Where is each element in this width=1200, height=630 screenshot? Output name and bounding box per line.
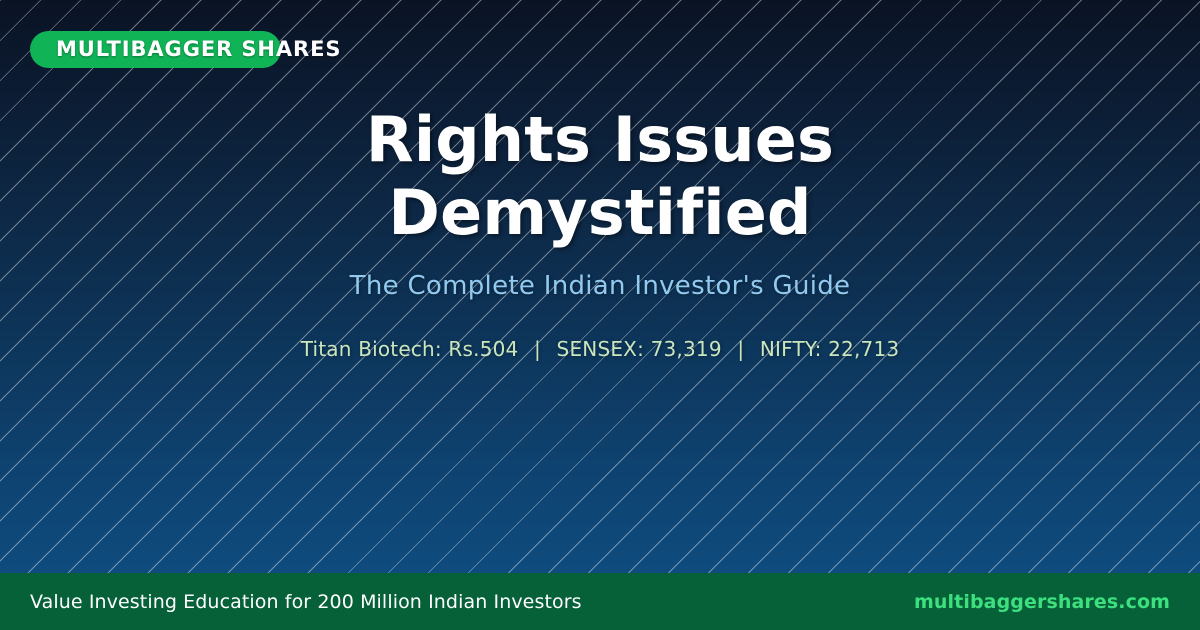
stat-separator-2: |	[728, 337, 753, 361]
social-card: MULTIBAGGER SHARES Rights Issues Demysti…	[0, 0, 1200, 630]
stat-nifty: NIFTY: 22,713	[760, 337, 899, 361]
stat-titan-biotech: Titan Biotech: Rs.504	[301, 337, 519, 361]
footer-tagline: Value Investing Education for 200 Millio…	[30, 591, 582, 613]
stat-separator-1: |	[525, 337, 550, 361]
footer-bar: Value Investing Education for 200 Millio…	[0, 573, 1200, 630]
page-title: Rights Issues Demystified	[150, 103, 1050, 249]
page-title-line-1: Rights Issues	[366, 103, 834, 176]
market-stats-line: Titan Biotech: Rs.504 | SENSEX: 73,319 |…	[100, 337, 1100, 361]
footer-domain-link[interactable]: multibaggershares.com	[914, 591, 1170, 613]
stat-sensex: SENSEX: 73,319	[557, 337, 722, 361]
page-title-line-2: Demystified	[388, 176, 811, 249]
hero-section: Rights Issues Demystified The Complete I…	[0, 0, 1200, 573]
page-subtitle: The Complete Indian Investor's Guide	[150, 271, 1050, 301]
